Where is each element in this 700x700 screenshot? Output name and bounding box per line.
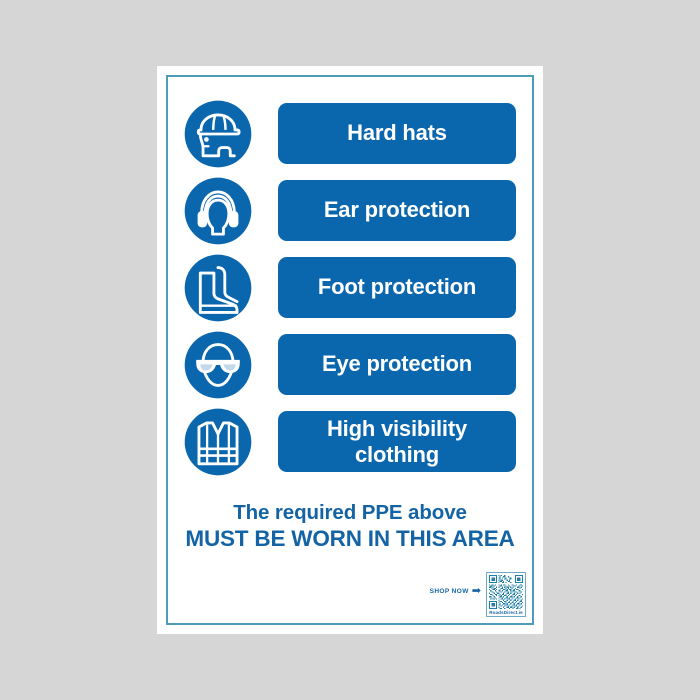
poster-stage: Hard hats Ear protection — [0, 0, 700, 700]
ppe-row-foot-protection: Foot protection — [184, 249, 516, 326]
ppe-requirements-list: Hard hats Ear protection — [184, 95, 516, 480]
shop-now-call-to-action: SHOP NOW ➡ — [430, 586, 481, 597]
shop-now-block[interactable]: SHOP NOW ➡ — [430, 572, 526, 617]
ear-protection-icon — [184, 177, 252, 245]
ppe-label-foot-protection: Foot protection — [312, 275, 482, 300]
ppe-label-hard-hats: Hard hats — [341, 121, 453, 146]
ppe-pill-eye-protection: Eye protection — [278, 334, 516, 395]
ppe-label-eye-protection: Eye protection — [316, 352, 478, 377]
qr-caption: RoadsDirect.ie — [489, 610, 523, 615]
qr-code-block[interactable]: RoadsDirect.ie — [486, 572, 526, 617]
ppe-row-ear-protection: Ear protection — [184, 172, 516, 249]
shop-now-label: SHOP NOW — [430, 588, 469, 595]
ppe-row-hi-vis-clothing: High visibilityclothing — [184, 403, 516, 480]
ppe-row-eye-protection: Eye protection — [184, 326, 516, 403]
ppe-label-hi-vis-line-2: clothing — [355, 442, 439, 467]
qr-code-icon[interactable] — [489, 575, 523, 609]
safety-glasses-icon — [184, 331, 252, 399]
footer-line-1: The required PPE above — [175, 500, 525, 525]
ppe-pill-hi-vis-clothing: High visibilityclothing — [278, 411, 516, 472]
ppe-label-hi-vis-line-1: High visibility — [327, 416, 467, 441]
ppe-label-hi-vis-clothing: High visibilityclothing — [321, 416, 473, 466]
hi-vis-vest-icon — [184, 408, 252, 476]
ppe-pill-ear-protection: Ear protection — [278, 180, 516, 241]
ppe-pill-foot-protection: Foot protection — [278, 257, 516, 318]
ppe-row-hard-hats: Hard hats — [184, 95, 516, 172]
ppe-sign-card: Hard hats Ear protection — [157, 66, 543, 634]
footer-message: The required PPE above MUST BE WORN IN T… — [175, 500, 525, 552]
ppe-label-ear-protection: Ear protection — [318, 198, 476, 223]
arrow-right-icon: ➡ — [472, 586, 481, 597]
hard-hat-icon — [184, 100, 252, 168]
ppe-pill-hard-hats: Hard hats — [278, 103, 516, 164]
safety-boot-icon — [184, 254, 252, 322]
footer-line-2: MUST BE WORN IN THIS AREA — [175, 525, 525, 552]
